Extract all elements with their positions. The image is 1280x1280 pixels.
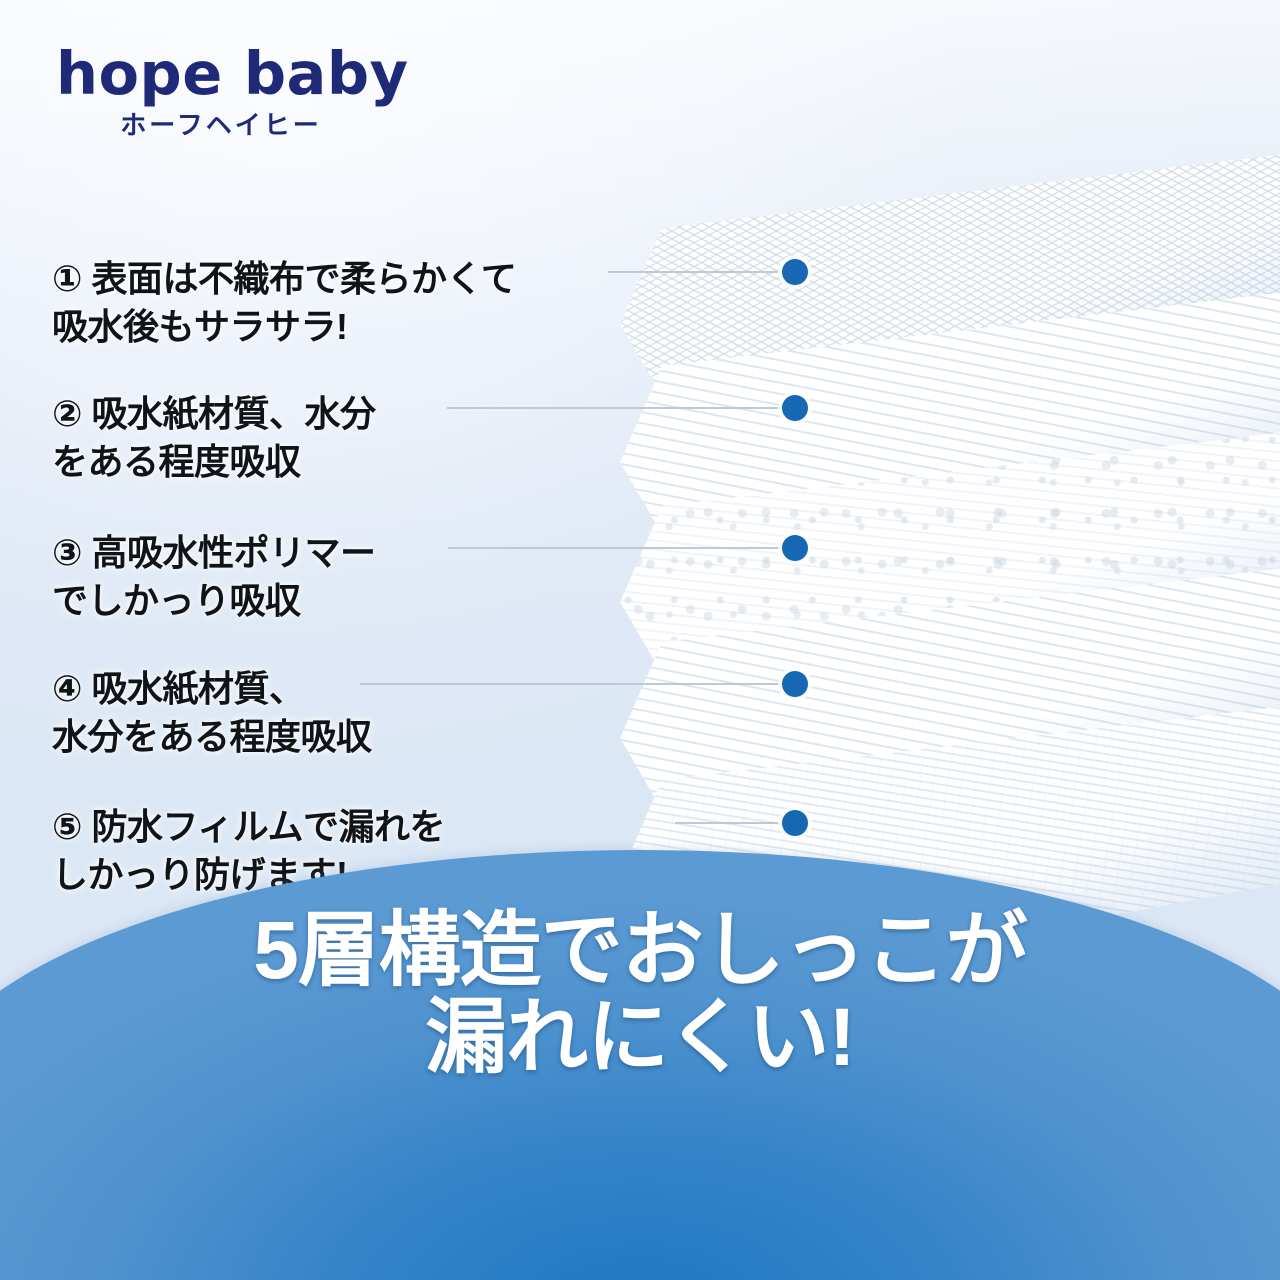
bottom-banner: 5層構造でおしっこが 漏れにくい! <box>0 850 1280 1280</box>
brand-kana-subtitle: ホーフヘイヒー <box>56 112 386 138</box>
callout-text-4: ④ 吸水紙材質、 水分をある程度吸収 <box>52 665 372 760</box>
banner-headline-line1: 5層構造でおしっこが <box>253 905 1027 996</box>
leader-line-3 <box>448 547 792 549</box>
brand-logo: hope baby ホーフヘイヒー <box>56 44 386 138</box>
product-infographic: hope baby ホーフヘイヒー <box>0 0 1280 1280</box>
leader-line-1 <box>608 271 792 273</box>
callout-text-1: ① 表面は不織布で柔らかくて 吸水後もサラサラ! <box>52 255 516 350</box>
product-layer-stack <box>620 150 1280 950</box>
anchor-dot-1[interactable] <box>782 259 808 285</box>
banner-inner: 5層構造でおしっこが 漏れにくい! <box>0 850 1280 1280</box>
leader-line-2 <box>447 407 792 409</box>
leader-line-5 <box>675 822 792 824</box>
anchor-dot-3[interactable] <box>782 535 808 561</box>
brand-wordmark: hope baby <box>56 44 386 103</box>
banner-headline-line2: 漏れにくい! <box>0 995 1280 1082</box>
callout-text-2: ② 吸水紙材質、水分 をある程度吸収 <box>52 390 375 485</box>
anchor-dot-2[interactable] <box>782 395 808 421</box>
anchor-dot-5[interactable] <box>782 810 808 836</box>
banner-headline: 5層構造でおしっこが 漏れにくい! <box>0 908 1280 1082</box>
callout-text-3: ③ 高吸水性ポリマー でしかっり吸収 <box>52 529 375 624</box>
leader-line-4 <box>360 683 792 685</box>
anchor-dot-4[interactable] <box>782 671 808 697</box>
